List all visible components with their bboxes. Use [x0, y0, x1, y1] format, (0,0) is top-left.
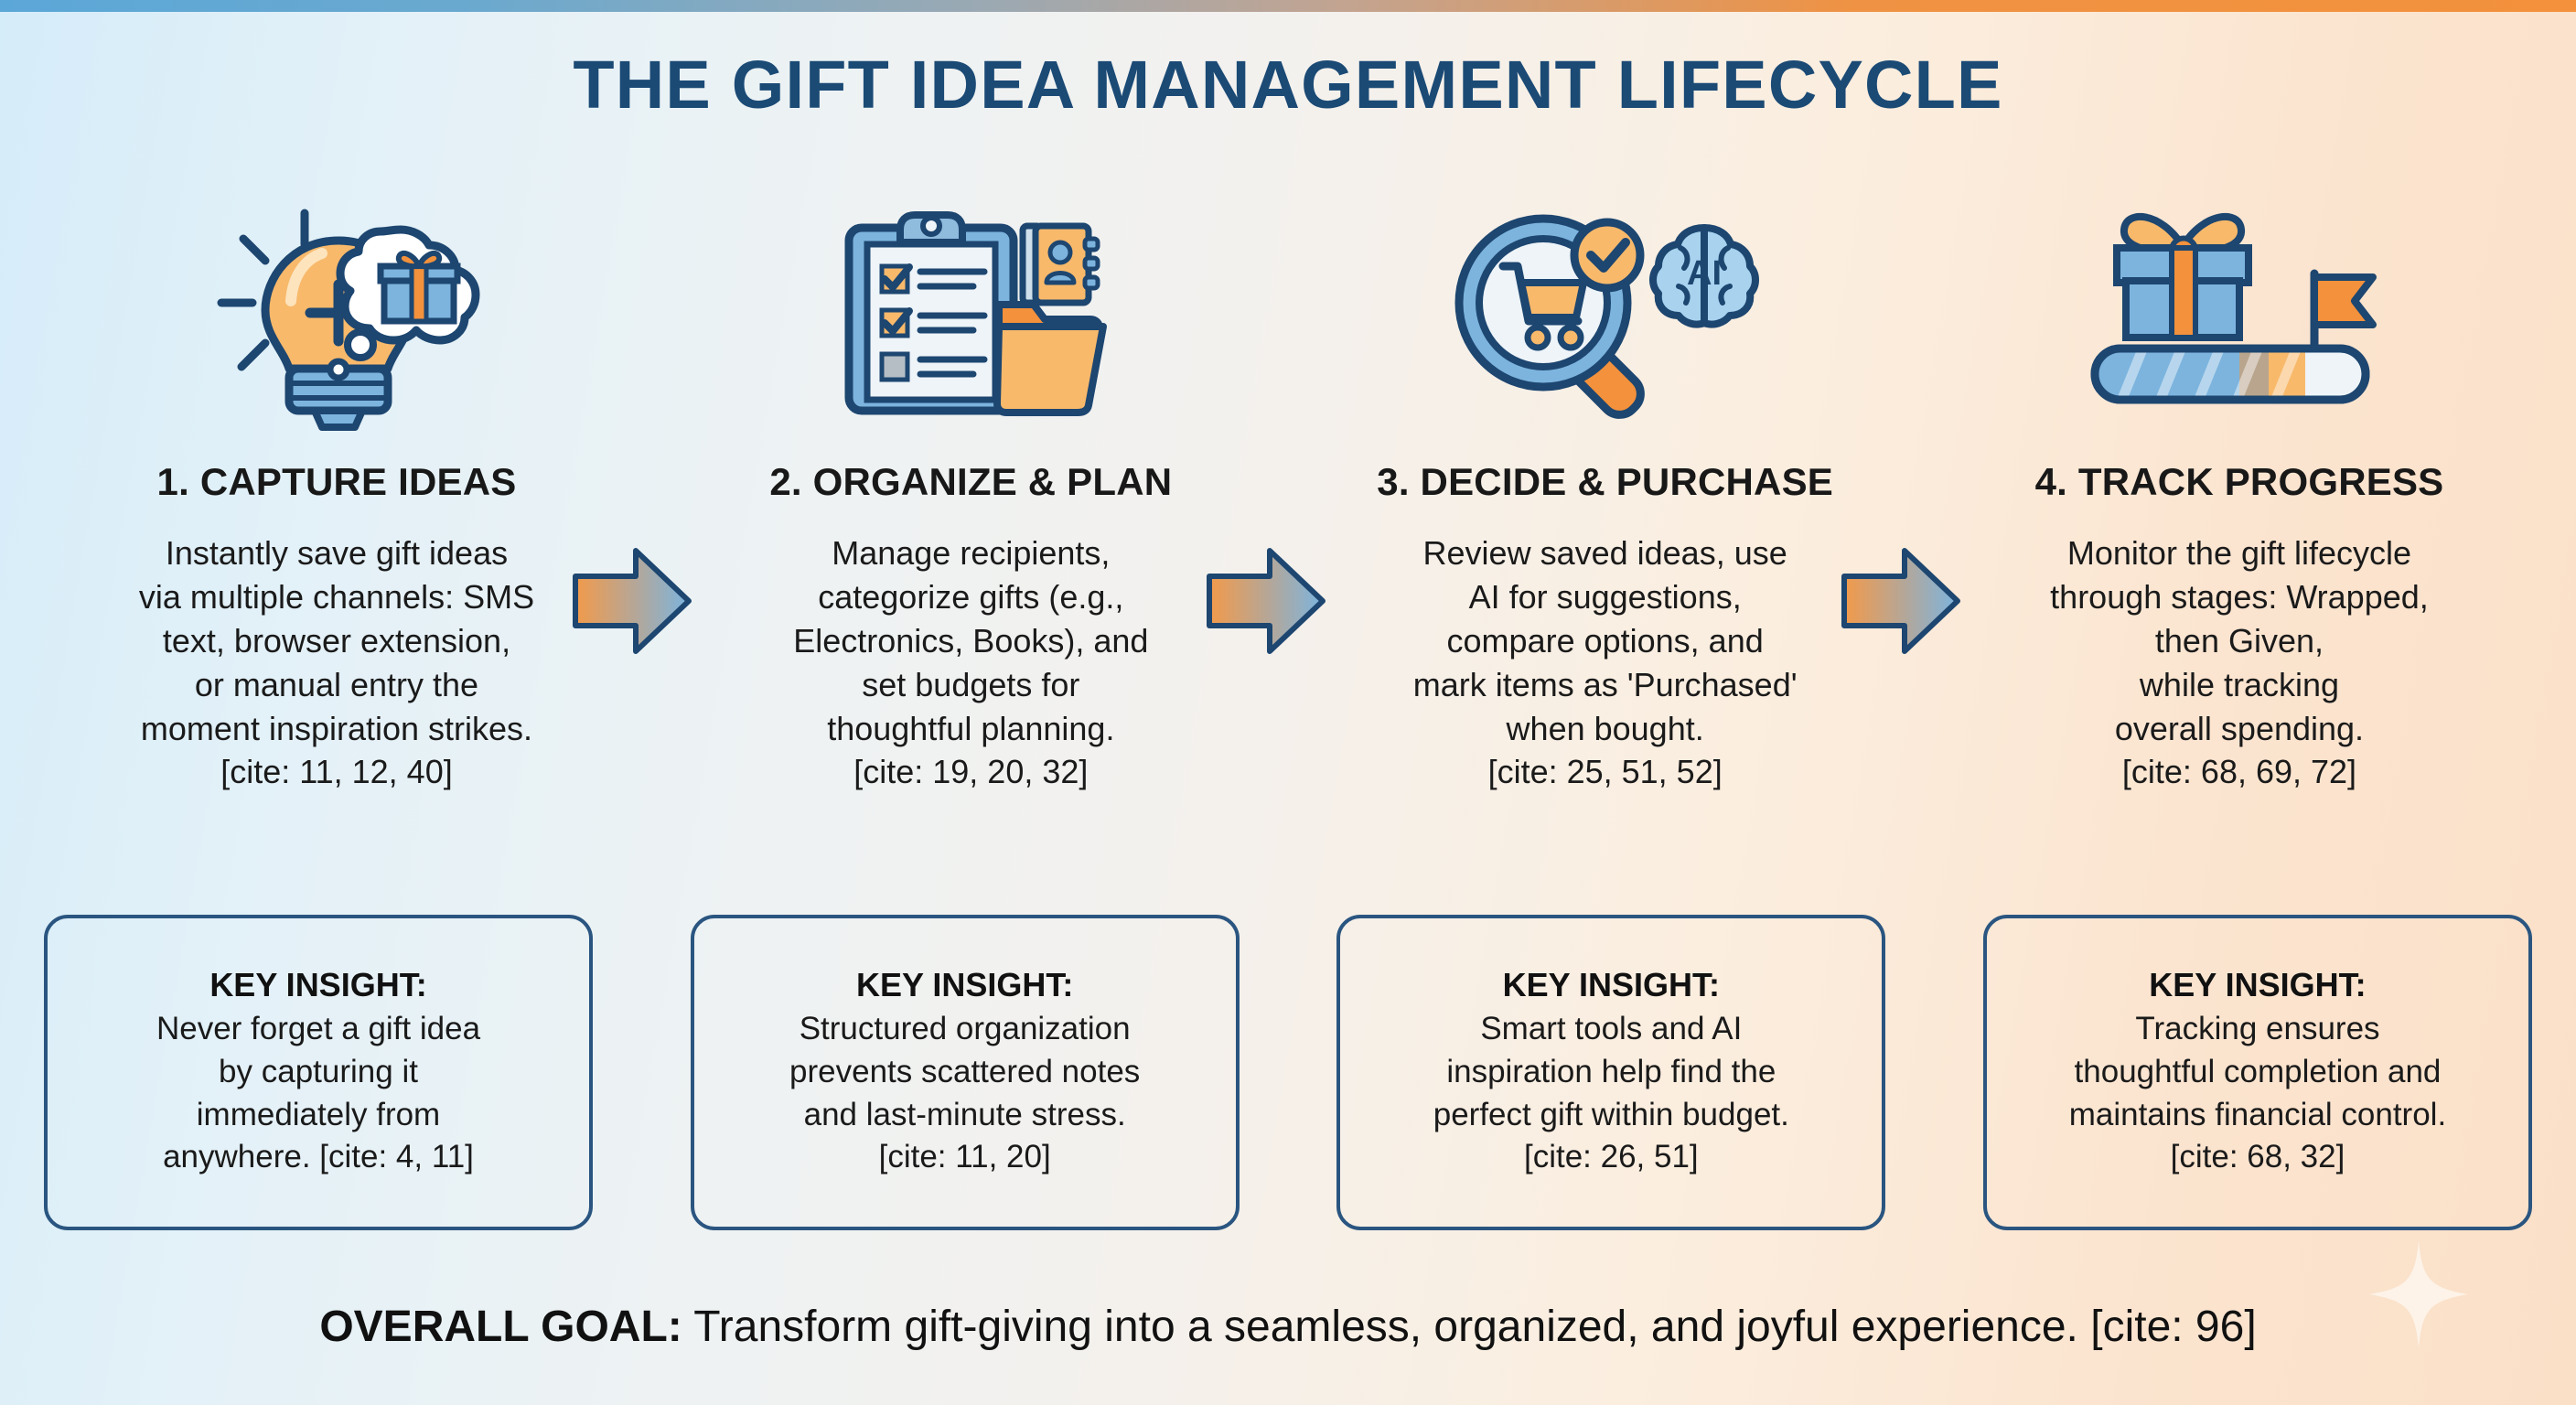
step-description: Review saved ideas, use AI for suggestio…: [1413, 531, 1798, 794]
key-insight-box-decide-purchase: KEY INSIGHT: Smart tools and AI inspirat…: [1336, 915, 1885, 1230]
clipboard-contacts-folder-icon: [678, 199, 1263, 433]
step-column-organize-plan: 2. ORGANIZE & PLAN Manage recipients, ca…: [678, 199, 1263, 794]
step-title: 3. DECIDE & PURCHASE: [1377, 460, 1833, 504]
step-column-capture-ideas: 1. CAPTURE IDEAS Instantly save gift ide…: [44, 199, 629, 794]
key-insight-box-track-progress: KEY INSIGHT: Tracking ensures thoughtful…: [1983, 915, 2532, 1230]
four-point-sparkle-icon: [2369, 1240, 2468, 1348]
magnifier-cart-ai-brain-icon: AI: [1313, 199, 1898, 433]
key-insight-box-organize-plan: KEY INSIGHT: Structured organization pre…: [691, 915, 1240, 1230]
key-insight-text: Never forget a gift idea by capturing it…: [156, 1008, 480, 1178]
step-title: 1. CAPTURE IDEAS: [157, 460, 517, 504]
step-title: 4. TRACK PROGRESS: [2035, 460, 2444, 504]
svg-text:AI: AI: [1687, 254, 1722, 293]
step-description: Manage recipients, categorize gifts (e.g…: [793, 531, 1148, 794]
overall-goal-label: OVERALL GOAL:: [319, 1303, 682, 1351]
key-insight-label: KEY INSIGHT:: [1503, 966, 1720, 1004]
step-description: Instantly save gift ideas via multiple c…: [139, 531, 534, 794]
gift-progressbar-flag-icon: [1947, 199, 2532, 433]
key-insight-label: KEY INSIGHT:: [856, 966, 1073, 1004]
key-insight-label: KEY INSIGHT:: [2149, 966, 2366, 1004]
overall-goal-text: Transform gift-giving into a seamless, o…: [682, 1303, 2257, 1351]
step-column-track-progress: 4. TRACK PROGRESS Monitor the gift lifec…: [1947, 199, 2532, 794]
step-column-decide-purchase: AI 3. DECIDE & PURCHASE Review saved ide…: [1313, 199, 1898, 794]
page-title: THE GIFT IDEA MANAGEMENT LIFECYCLE: [0, 46, 2576, 123]
key-insights-row: KEY INSIGHT: Never forget a gift idea by…: [0, 915, 2576, 1230]
top-accent-bar: [0, 0, 2576, 12]
steps-row: 1. CAPTURE IDEAS Instantly save gift ide…: [0, 199, 2576, 794]
step-description: Monitor the gift lifecycle through stage…: [2050, 531, 2429, 794]
lightbulb-gift-thought-icon: [44, 199, 629, 433]
step-title: 2. ORGANIZE & PLAN: [769, 460, 1172, 504]
key-insight-box-capture-ideas: KEY INSIGHT: Never forget a gift idea by…: [44, 915, 593, 1230]
key-insight-text: Structured organization prevents scatter…: [789, 1008, 1140, 1178]
overall-goal-footer: OVERALL GOAL: Transform gift-giving into…: [0, 1302, 2576, 1352]
key-insight-label: KEY INSIGHT:: [209, 966, 426, 1004]
infographic-canvas: THE GIFT IDEA MANAGEMENT LIFECYCLE: [0, 0, 2576, 1405]
key-insight-text: Tracking ensures thoughtful completion a…: [2069, 1008, 2446, 1178]
key-insight-text: Smart tools and AI inspiration help find…: [1433, 1008, 1789, 1178]
